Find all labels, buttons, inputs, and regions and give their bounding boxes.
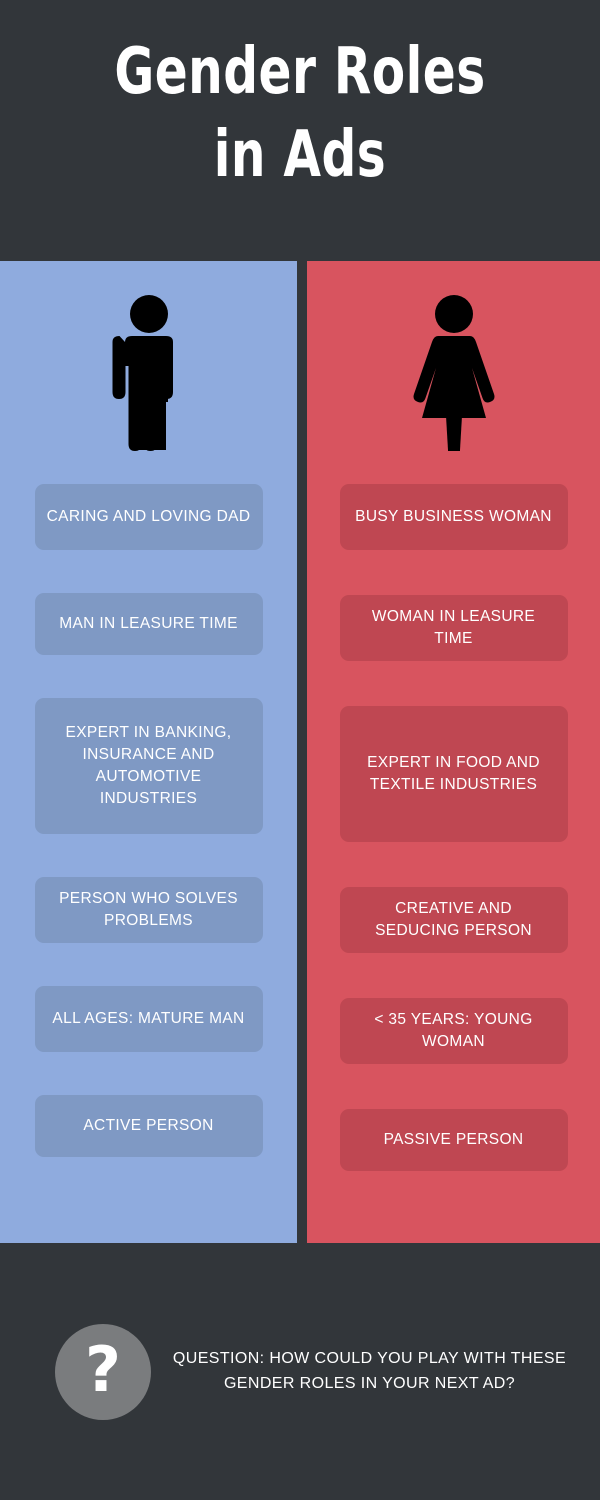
list-item[interactable]: CARING AND LOVING DAD xyxy=(35,484,263,550)
list-item[interactable]: ACTIVE PERSON xyxy=(35,1095,263,1157)
list-item[interactable]: EXPERT IN BANKING, INSURANCE AND AUTOMOT… xyxy=(35,698,263,834)
female-trait-list: BUSY BUSINESS WOMAN WOMAN IN LEASURE TIM… xyxy=(307,484,600,1243)
list-item[interactable]: CREATIVE AND SEDUCING PERSON xyxy=(340,887,568,953)
footer-question-text: QUESTION: HOW COULD YOU PLAY WITH THESE … xyxy=(151,1347,600,1397)
footer: ? QUESTION: HOW COULD YOU PLAY WITH THES… xyxy=(0,1243,600,1500)
header: Gender Roles in Ads xyxy=(0,0,600,261)
list-item[interactable]: PERSON WHO SOLVES PROBLEMS xyxy=(35,877,263,943)
list-item[interactable]: EXPERT IN FOOD AND TEXTILE INDUSTRIES xyxy=(340,706,568,842)
male-pictogram-icon xyxy=(0,261,297,484)
female-column: BUSY BUSINESS WOMAN WOMAN IN LEASURE TIM… xyxy=(307,261,600,1243)
list-item[interactable]: WOMAN IN LEASURE TIME xyxy=(340,595,568,661)
infographic-root: Gender Roles in Ads CARING AND LOVING DA… xyxy=(0,0,600,1500)
list-item[interactable]: MAN IN LEASURE TIME xyxy=(35,593,263,655)
list-item[interactable]: PASSIVE PERSON xyxy=(340,1109,568,1171)
page-title-line-1: Gender Roles xyxy=(114,37,485,108)
male-trait-list: CARING AND LOVING DAD MAN IN LEASURE TIM… xyxy=(0,484,297,1243)
list-item[interactable]: < 35 YEARS: YOUNG WOMAN xyxy=(340,998,568,1064)
comparison-columns: CARING AND LOVING DAD MAN IN LEASURE TIM… xyxy=(0,261,600,1243)
column-divider xyxy=(297,261,307,1243)
male-column: CARING AND LOVING DAD MAN IN LEASURE TIM… xyxy=(0,261,297,1243)
list-item[interactable]: ALL AGES: MATURE MAN xyxy=(35,986,263,1052)
page-title-line-2: in Ads xyxy=(214,119,386,190)
question-mark-glyph: ? xyxy=(85,1339,121,1401)
question-mark-icon: ? xyxy=(55,1324,151,1420)
female-pictogram-icon xyxy=(307,261,600,484)
list-item[interactable]: BUSY BUSINESS WOMAN xyxy=(340,484,568,550)
